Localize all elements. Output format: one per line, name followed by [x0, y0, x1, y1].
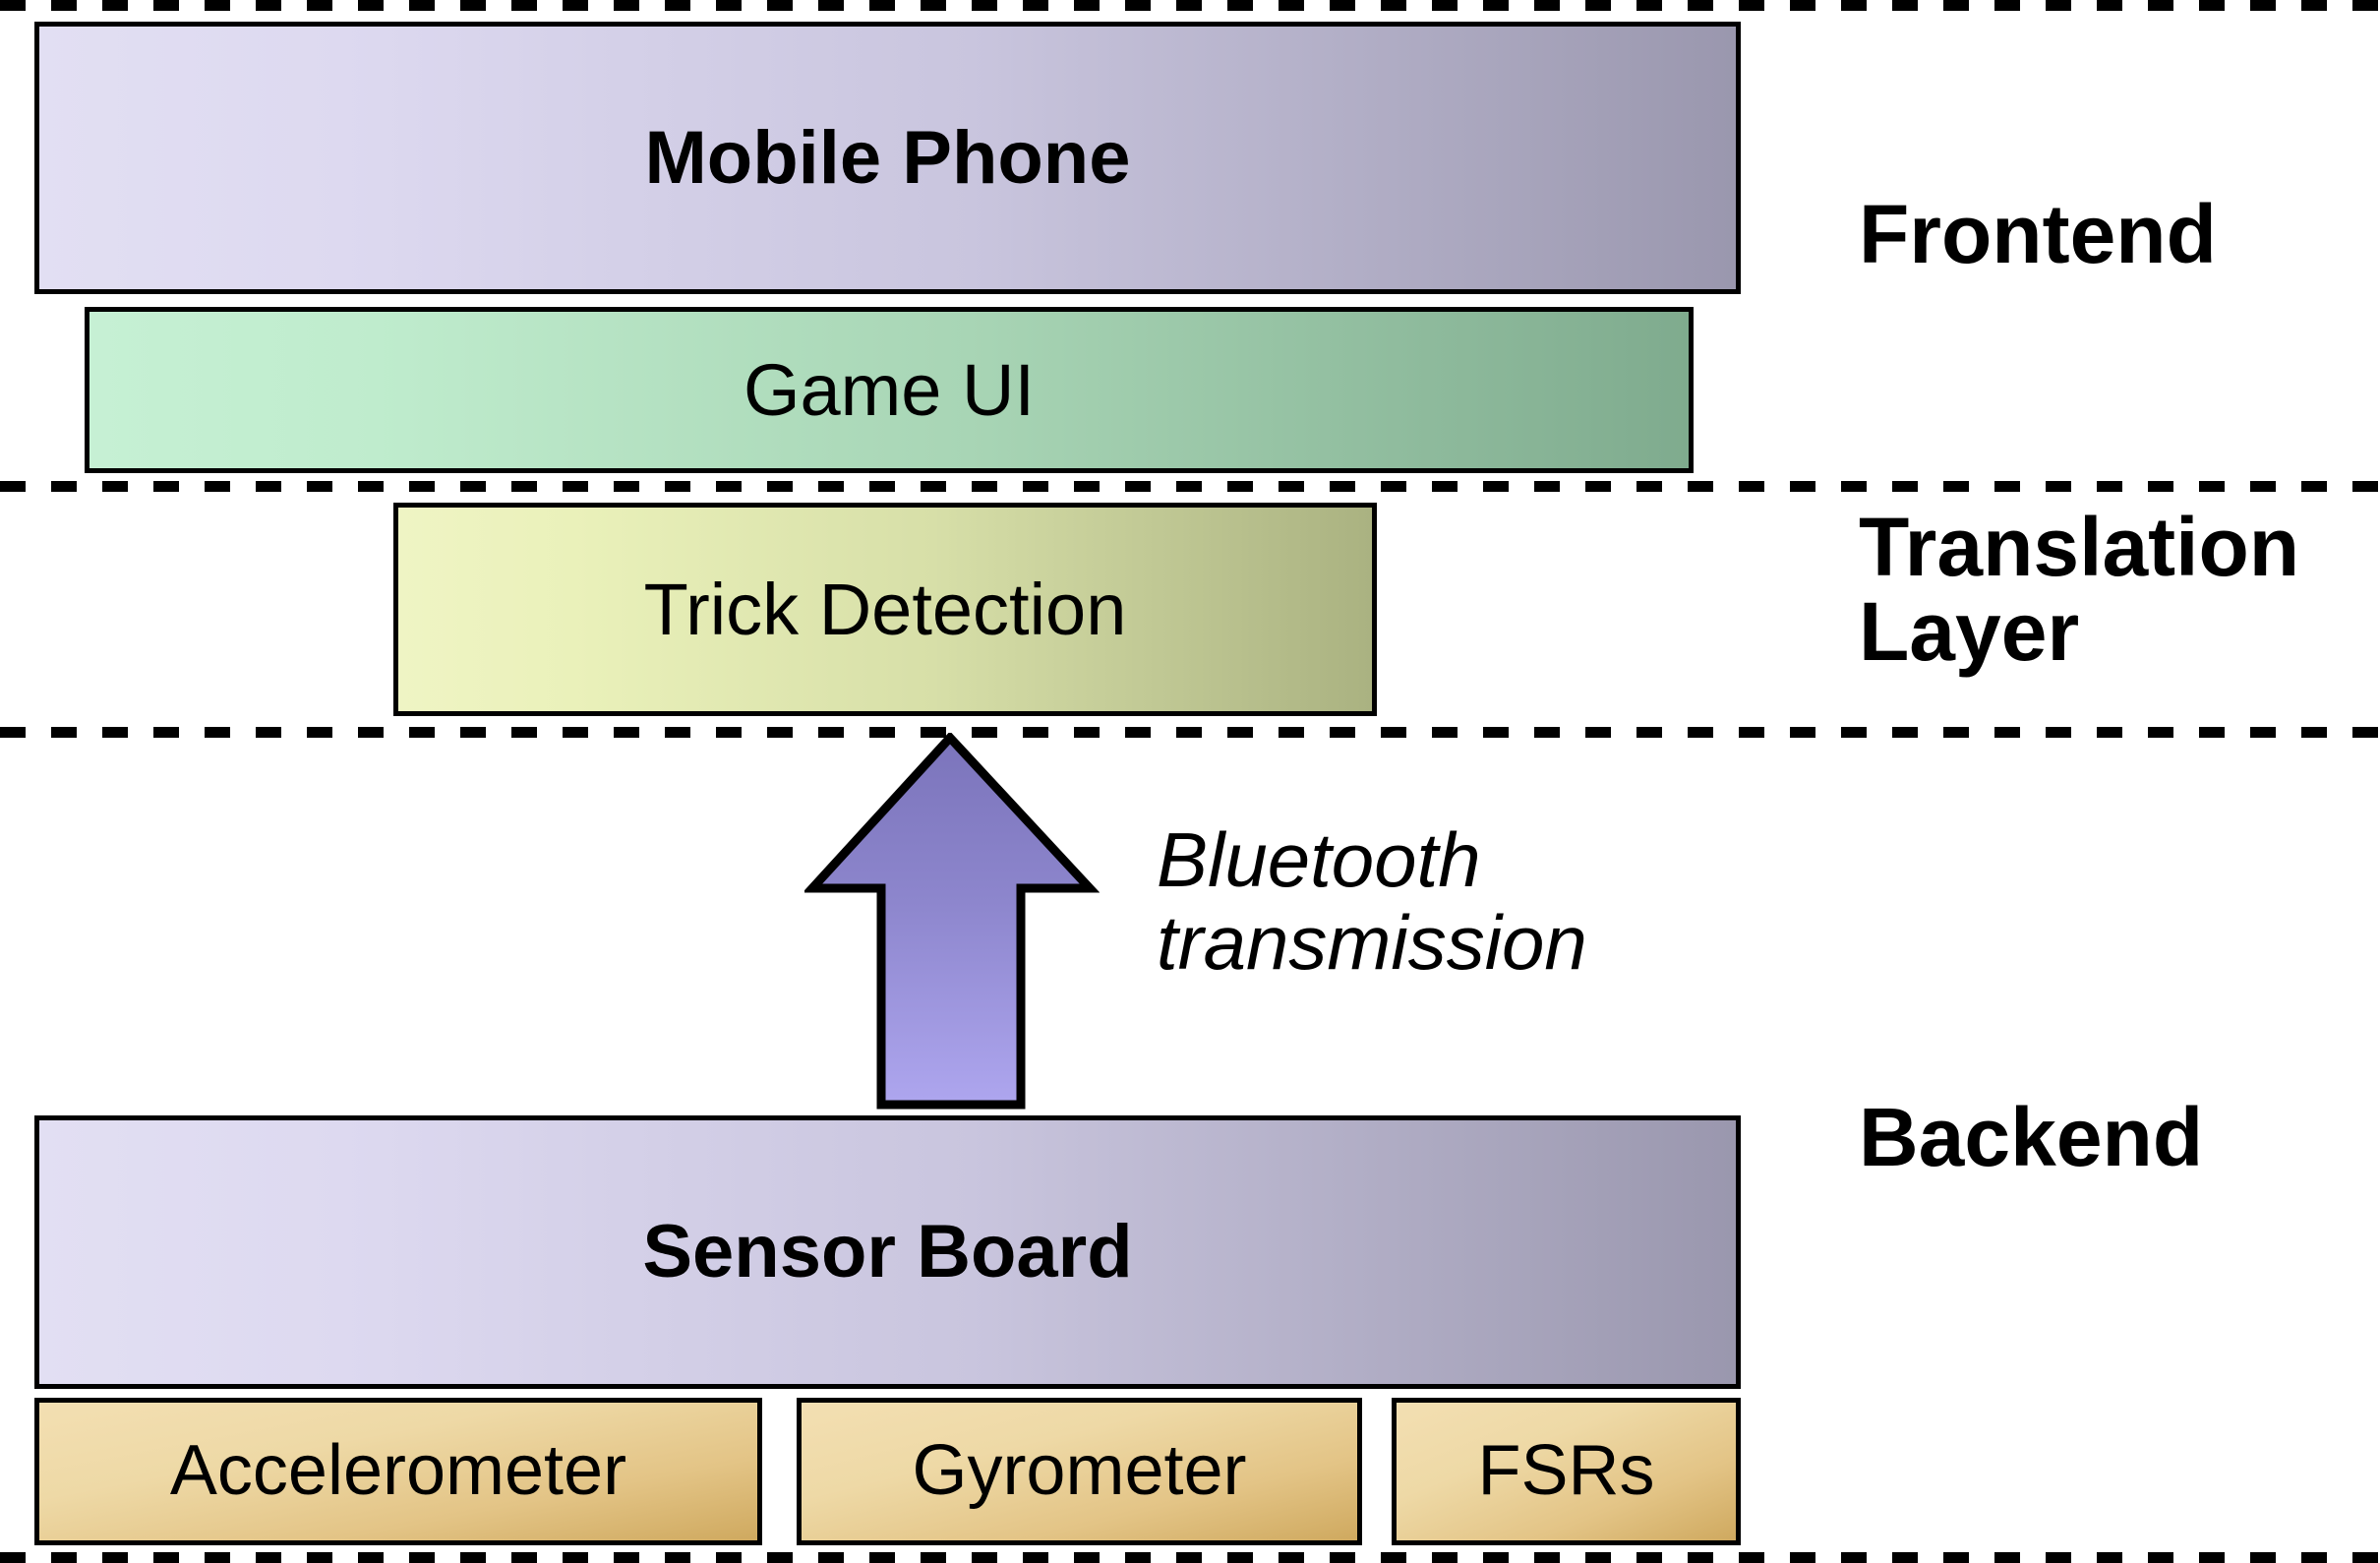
layer-label-frontend: Frontend: [1859, 193, 2217, 277]
block-gyrometer[interactable]: Gyrometer: [797, 1398, 1362, 1545]
block-game-ui-label: Game UI: [744, 353, 1035, 427]
block-mobile-phone-label: Mobile Phone: [645, 120, 1131, 197]
block-game-ui[interactable]: Game UI: [85, 307, 1694, 473]
block-trick-detection[interactable]: Trick Detection: [393, 503, 1377, 716]
block-sensor-board-label: Sensor Board: [642, 1214, 1132, 1291]
layer-divider-translation-backend: [0, 727, 2380, 738]
block-accelerometer[interactable]: Accelerometer: [34, 1398, 762, 1545]
layer-divider-frontend-translation: [0, 481, 2380, 492]
architecture-diagram: Mobile Phone Game UI Frontend Trick Dete…: [0, 0, 2380, 1563]
block-accelerometer-label: Accelerometer: [170, 1435, 626, 1507]
block-fsrs[interactable]: FSRs: [1392, 1398, 1741, 1545]
block-fsrs-label: FSRs: [1478, 1435, 1655, 1507]
block-mobile-phone[interactable]: Mobile Phone: [34, 22, 1741, 294]
layer-label-backend: Backend: [1859, 1096, 2203, 1180]
layer-divider-top: [0, 0, 2380, 11]
bluetooth-transmission-label: Bluetooth transmission: [1157, 818, 1587, 984]
layer-divider-bottom: [0, 1552, 2380, 1563]
block-trick-detection-label: Trick Detection: [644, 572, 1127, 646]
layer-label-translation-layer: Translation Layer: [1859, 506, 2299, 674]
block-gyrometer-label: Gyrometer: [912, 1435, 1246, 1507]
bluetooth-up-arrow-icon: [804, 733, 1100, 1112]
block-sensor-board[interactable]: Sensor Board: [34, 1115, 1741, 1389]
